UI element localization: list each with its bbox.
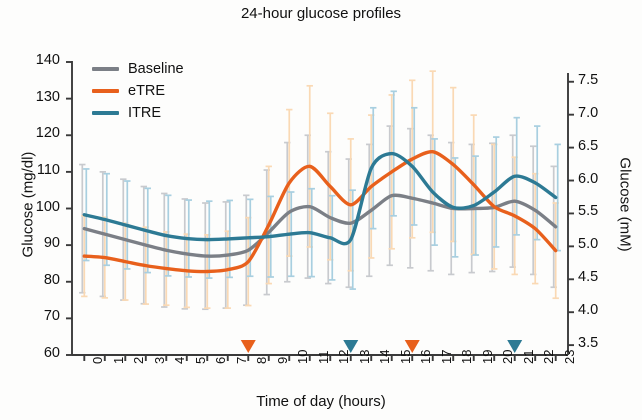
- x-tick-label: 21: [521, 350, 536, 364]
- x-tick-label: 8: [254, 357, 269, 364]
- x-tick-label: 15: [398, 350, 413, 364]
- x-tick-label: 3: [152, 357, 167, 364]
- x-tick-label: 18: [459, 350, 474, 364]
- y-tick-label-left: 100: [14, 199, 60, 215]
- glucose-profile-figure: 24-hour glucose profiles Glucose (mg/dl)…: [0, 0, 642, 420]
- y-tick-label-right: 4.0: [578, 302, 624, 318]
- y-tick-label-left: 140: [14, 52, 60, 68]
- x-tick-label: 20: [500, 350, 515, 364]
- x-tick-label: 22: [541, 350, 556, 364]
- y-tick-label-left: 80: [14, 272, 60, 288]
- y-tick-label-right: 4.5: [578, 269, 624, 285]
- y-tick-label-left: 130: [14, 89, 60, 105]
- y-tick-label-right: 6.5: [578, 138, 624, 154]
- x-tick-label: 5: [193, 357, 208, 364]
- x-tick-label: 16: [418, 350, 433, 364]
- x-tick-label: 19: [480, 350, 495, 364]
- x-tick-label: 1: [111, 357, 126, 364]
- x-tick-label: 4: [172, 357, 187, 364]
- series-line-itre: [84, 154, 555, 244]
- error-bars-itre: [83, 91, 561, 289]
- x-tick-label: 0: [90, 357, 105, 364]
- meal-marker-8h-icon: [241, 340, 256, 353]
- x-tick-label: 14: [377, 350, 392, 364]
- x-tick-label: 23: [562, 350, 577, 364]
- y-tick-label-left: 110: [14, 162, 60, 178]
- error-bars-baseline: [79, 126, 557, 309]
- x-tick-label: 13: [357, 350, 372, 364]
- error-bars-etre: [81, 71, 559, 308]
- series-line-baseline: [84, 195, 555, 256]
- y-tick-label-right: 5.5: [578, 203, 624, 219]
- y-tick-label-right: 7.0: [578, 105, 624, 121]
- x-tick-label: 7: [234, 357, 249, 364]
- x-tick-label: 9: [275, 357, 290, 364]
- y-tick-label-right: 7.5: [578, 72, 624, 88]
- x-tick-label: 12: [336, 350, 351, 364]
- x-tick-label: 11: [316, 351, 331, 365]
- x-tick-label: 10: [295, 350, 310, 364]
- y-tick-label-right: 5.0: [578, 236, 624, 252]
- y-tick-label-left: 70: [14, 308, 60, 324]
- y-tick-label-left: 120: [14, 125, 60, 141]
- x-tick-label: 2: [131, 357, 146, 364]
- y-tick-label-left: 60: [14, 345, 60, 361]
- x-tick-label: 6: [213, 357, 228, 364]
- x-tick-label: 17: [439, 350, 454, 364]
- y-tick-label-right: 3.5: [578, 335, 624, 351]
- y-tick-label-left: 90: [14, 235, 60, 251]
- y-tick-label-right: 6.0: [578, 171, 624, 187]
